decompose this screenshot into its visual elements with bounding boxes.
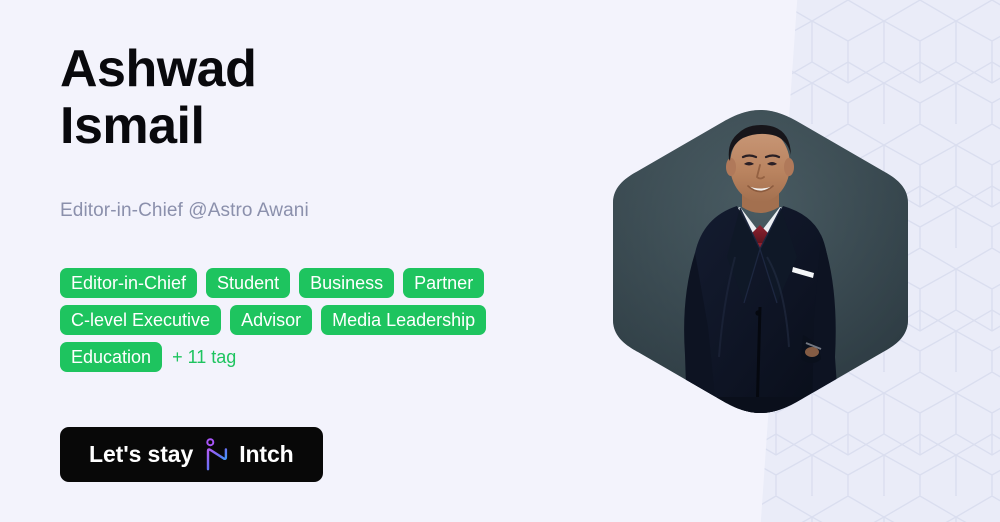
- tag-chip[interactable]: Advisor: [230, 305, 312, 335]
- avatar: [607, 107, 914, 416]
- avatar-hexagon-mask: [607, 107, 914, 416]
- profile-card: Ashwad Ismail Editor-in-Chief @Astro Awa…: [0, 0, 1000, 522]
- intch-n-logo-icon: [204, 438, 230, 472]
- tag-chip[interactable]: Editor-in-Chief: [60, 268, 197, 298]
- more-tags-label[interactable]: + 11 tag: [171, 342, 236, 372]
- profile-subtitle: Editor-in-Chief @Astro Awani: [60, 198, 309, 224]
- tag-chip[interactable]: Business: [299, 268, 394, 298]
- lets-stay-intch-button[interactable]: Let's stay Intch: [60, 427, 323, 482]
- cta-brand: Intch: [239, 441, 293, 468]
- avatar-photo: [607, 107, 914, 416]
- tag-chip[interactable]: C-level Executive: [60, 305, 221, 335]
- cta-label: Let's stay: [89, 441, 193, 468]
- tag-chip[interactable]: Media Leadership: [321, 305, 486, 335]
- tag-chip[interactable]: Student: [206, 268, 290, 298]
- tag-chip[interactable]: Partner: [403, 268, 484, 298]
- page-title: Ashwad Ismail: [60, 41, 256, 155]
- tag-list: Editor-in-Chief Student Business Partner…: [60, 268, 530, 372]
- tag-chip[interactable]: Education: [60, 342, 162, 372]
